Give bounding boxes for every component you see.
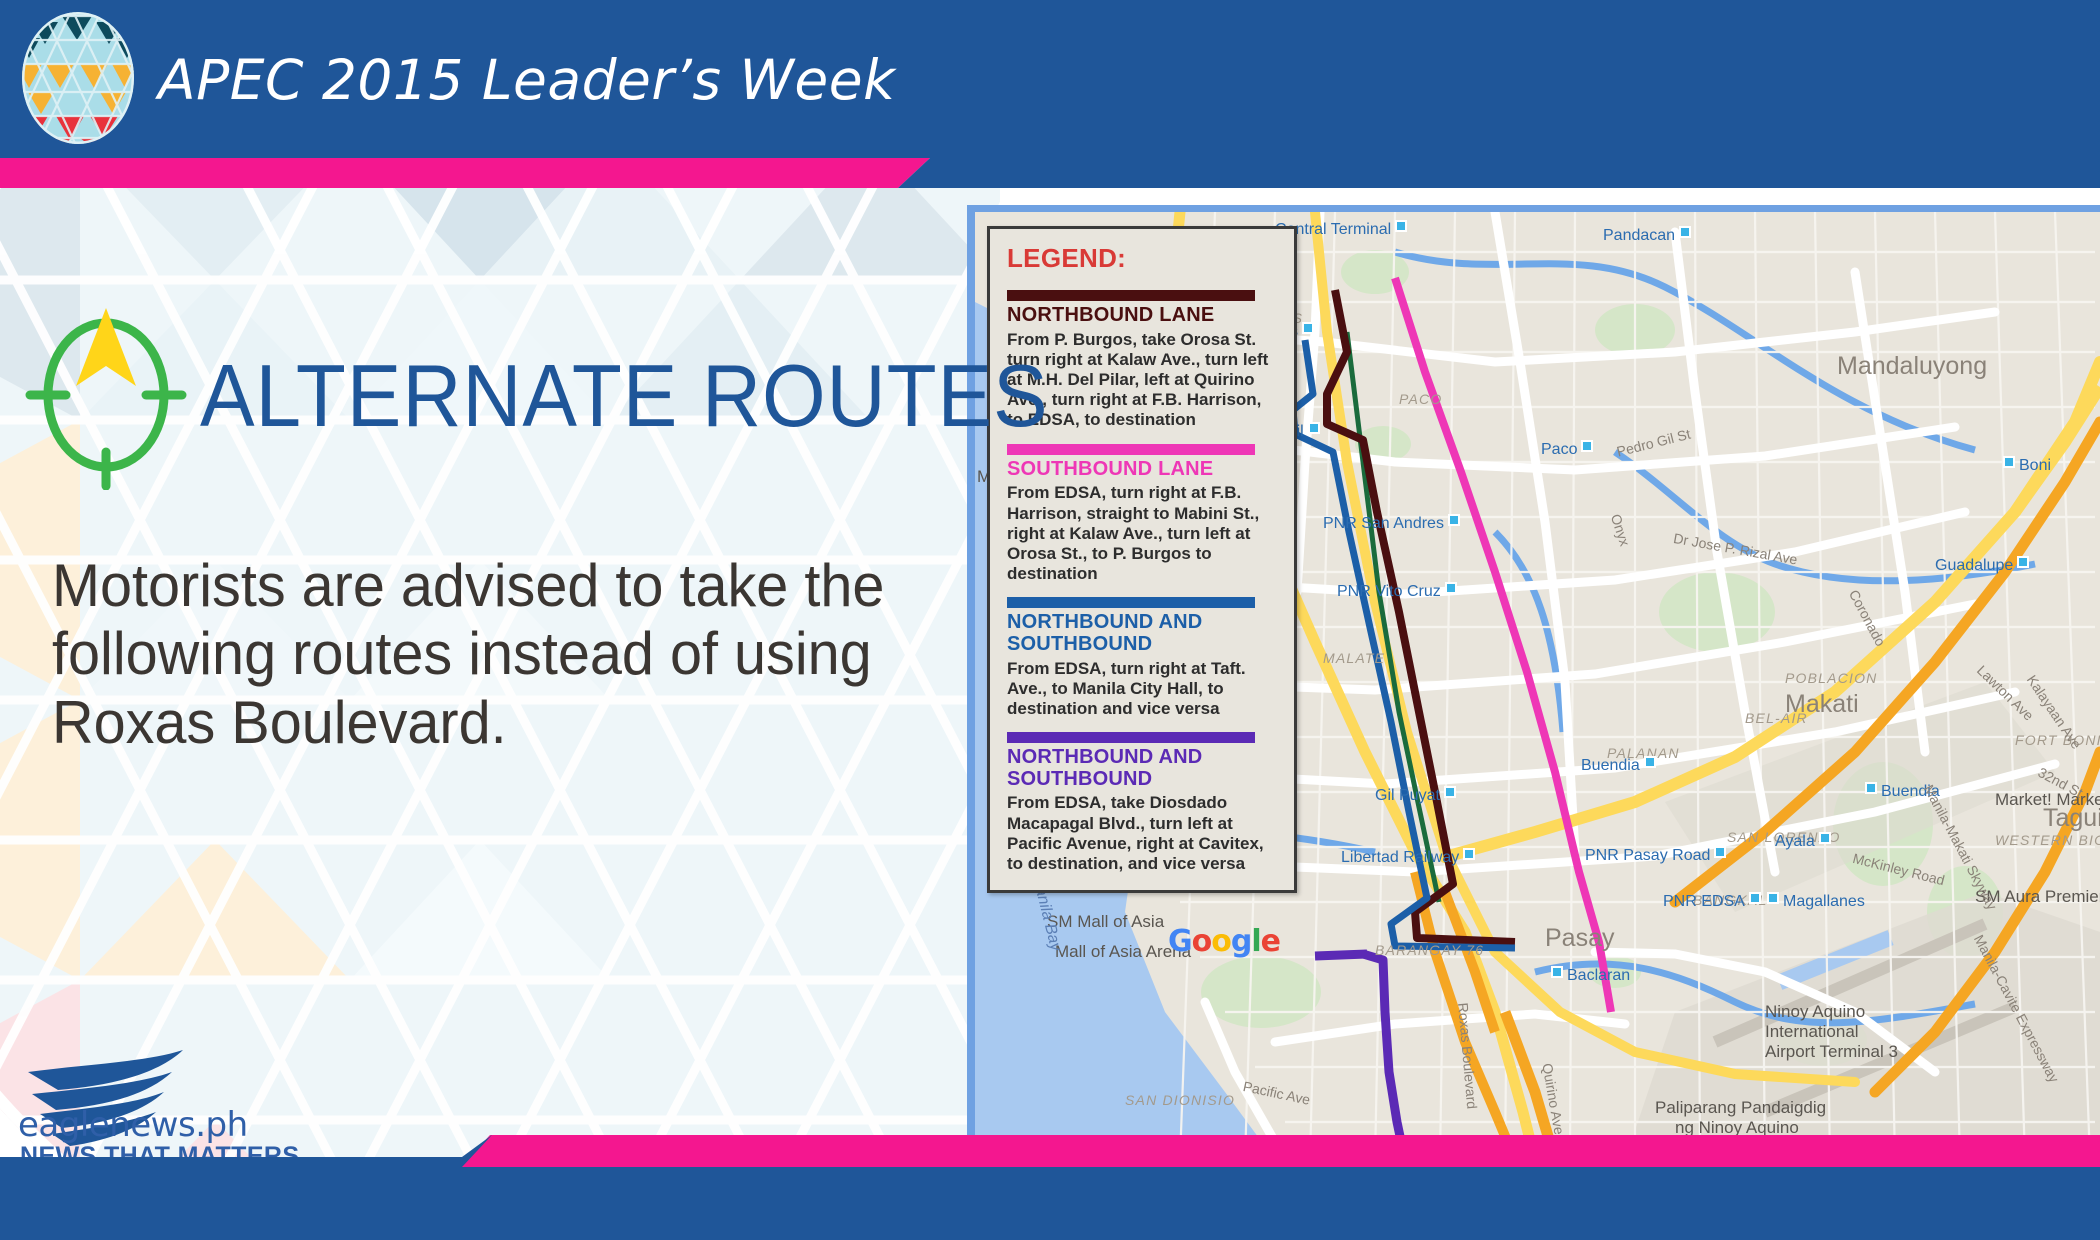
alternate-routes-heading: ALTERNATE ROUTES: [200, 345, 1049, 447]
map-transit-label: Libertad Railway: [1341, 848, 1475, 867]
transit-icon: [1308, 422, 1320, 434]
transit-icon: [1444, 786, 1456, 798]
map-place-label: Ninoy Aquino: [1765, 1002, 1865, 1022]
legend-color-swatch-both-purple: [1007, 732, 1255, 743]
legend-description: From EDSA, take Diosdado Macapagal Blvd.…: [1007, 793, 1277, 874]
legend-section-southbound: SOUTHBOUND LANE From EDSA, turn right at…: [1007, 444, 1277, 585]
legend-title: LEGEND:: [1007, 243, 1277, 274]
transit-icon: [1644, 756, 1656, 768]
map-transit-label: Ayala: [1775, 832, 1831, 851]
map-transit-label: Gil Puyat: [1375, 786, 1456, 805]
apec-globe-logo: [12, 8, 144, 148]
map-city-label: Mandaluyong: [1837, 352, 1987, 381]
transit-icon: [1679, 226, 1691, 238]
map-area-label: WESTERN BICUTAN: [1995, 832, 2100, 848]
header-pink-stripe: [0, 158, 2100, 188]
compass-icon: [18, 300, 193, 490]
page-title: APEC 2015 Leader’s Week: [158, 48, 895, 112]
legend-section-both-blue: NORTHBOUND AND SOUTHBOUND From EDSA, tur…: [1007, 597, 1277, 719]
map-transit-label: Pandacan: [1603, 226, 1691, 245]
map-area-label: MALATE: [1323, 650, 1385, 666]
map-area-label: BEL-AIR: [1745, 710, 1808, 726]
map-city-label: Pasay: [1545, 924, 1614, 953]
map-area-label: POBLACION: [1785, 670, 1878, 686]
legend-color-swatch-both-blue: [1007, 597, 1255, 608]
map-canvas[interactable]: Mandaluyong Makati Pasay Taguig PORT ARE…: [975, 212, 2100, 1160]
map-area-label: SAN DIONISIO: [1125, 1092, 1235, 1108]
transit-icon: [1714, 846, 1726, 858]
transit-icon: [1749, 892, 1761, 904]
google-logo: Google: [1168, 924, 1280, 959]
map-place-label: Market! Market!: [1995, 790, 2100, 810]
map-area-label: PACO: [1399, 391, 1442, 407]
legend-heading: NORTHBOUND LANE: [1007, 305, 1277, 327]
map-place-label: International: [1765, 1022, 1859, 1042]
map-place-label: Paliparang Pandaigdig: [1655, 1098, 1826, 1118]
map-transit-label: Paco: [1541, 440, 1593, 459]
transit-icon: [1767, 892, 1779, 904]
legend-color-swatch-northbound: [1007, 290, 1255, 301]
map-place-label: Airport Terminal 3: [1765, 1042, 1898, 1062]
map-transit-label: PNR San Andres: [1323, 514, 1460, 533]
legend-heading: NORTHBOUND AND SOUTHBOUND: [1007, 612, 1277, 655]
transit-icon: [1865, 782, 1877, 794]
legend-description: From EDSA, turn right at Taft. Ave., to …: [1007, 659, 1277, 720]
map-transit-label: Magallanes: [1767, 892, 1865, 911]
legend-heading: SOUTHBOUND LANE: [1007, 459, 1277, 481]
map-area-label: FORT BONIFACIO: [2015, 732, 2100, 748]
map-transit-label: Guadalupe: [1935, 556, 2029, 575]
map-place-label: SM Mall of Asia: [1047, 912, 1164, 932]
legend-heading: NORTHBOUND AND SOUTHBOUND: [1007, 747, 1277, 790]
transit-icon: [1395, 220, 1407, 232]
transit-icon: [2017, 556, 2029, 568]
map-transit-label: PNR Vito Cruz: [1337, 582, 1457, 601]
map-transit-label: PNR Pasay Road: [1585, 846, 1726, 865]
map-area-label: BARANGAY 76: [1375, 942, 1484, 958]
transit-icon: [1445, 582, 1457, 594]
advisory-body-text: Motorists are advised to take the follow…: [52, 552, 916, 757]
transit-icon: [1551, 966, 1563, 978]
map-transit-label: Boni: [2003, 456, 2051, 475]
map-transit-label: PNR EDSA: [1663, 892, 1761, 911]
transit-icon: [1819, 832, 1831, 844]
legend-description: From EDSA, turn right at F.B. Harrison, …: [1007, 483, 1277, 584]
transit-icon: [2003, 456, 2015, 468]
legend-box: LEGEND: NORTHBOUND LANE From P. Burgos, …: [987, 226, 1297, 893]
transit-icon: [1448, 514, 1460, 526]
footer-bar: [0, 1135, 2100, 1240]
map-transit-label: Baclaran: [1551, 966, 1630, 985]
map-frame: Mandaluyong Makati Pasay Taguig PORT ARE…: [967, 205, 2100, 1160]
transit-icon: [1581, 440, 1593, 452]
transit-icon: [1302, 322, 1314, 334]
map-transit-label: Buendia: [1581, 756, 1656, 775]
transit-icon: [1463, 848, 1475, 860]
legend-section-both-purple: NORTHBOUND AND SOUTHBOUND From EDSA, tak…: [1007, 732, 1277, 874]
